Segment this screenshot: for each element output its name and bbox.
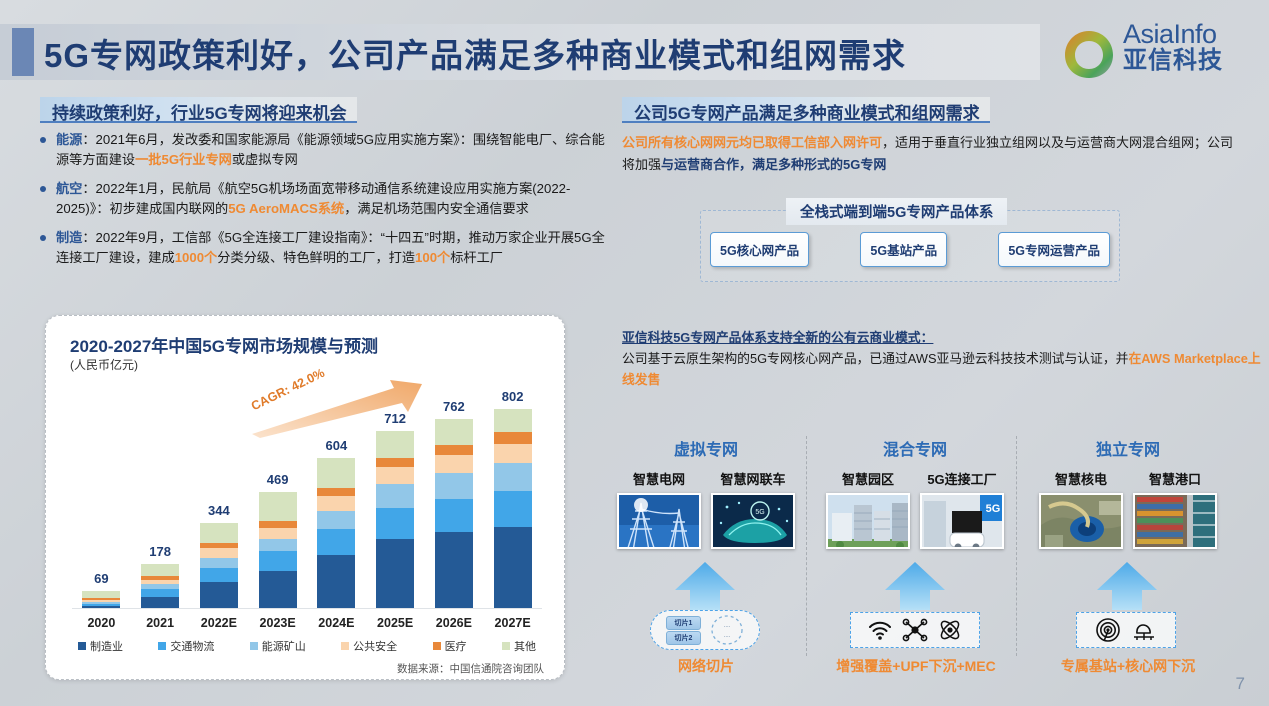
right-section-title: 公司5G专网产品满足多种商业模式和组网需求 xyxy=(622,97,990,123)
chart-bar-segment xyxy=(494,432,532,443)
legend-label: 其他 xyxy=(514,638,536,654)
connected-car-photo: 5G xyxy=(711,493,795,549)
legend-item[interactable]: 其他 xyxy=(502,638,536,654)
chart-bar-segment xyxy=(200,582,238,608)
chart-bar-value: 604 xyxy=(326,438,348,453)
column-title: 混合专网 xyxy=(820,436,1010,460)
legend-item[interactable]: 医疗 xyxy=(433,638,467,654)
chart-bar-segment xyxy=(141,564,179,576)
thumbnail-item[interactable]: 智慧网联车 5G xyxy=(711,469,795,549)
chart-bar-value: 762 xyxy=(443,399,465,414)
legend-label: 医疗 xyxy=(445,638,467,654)
chart-bar-value: 802 xyxy=(502,389,524,404)
chart-bar-segment xyxy=(259,551,297,571)
up-arrow-icon xyxy=(1096,560,1158,610)
chart-bar: 469 xyxy=(259,492,297,608)
bullet-highlight: 1000个 xyxy=(175,250,218,265)
chart-bar-segment xyxy=(200,523,238,543)
list-item: 制造：2022年9月，工信部《5G全连接工厂建设指南》：“十四五”时期，推动万家… xyxy=(30,228,610,268)
tech-icon-box xyxy=(850,612,980,648)
chart-bar-segment xyxy=(435,455,473,473)
column-divider-2 xyxy=(1016,436,1017,656)
chart-bar-segment xyxy=(259,528,297,539)
smart-factory-image: 5G xyxy=(922,495,1004,549)
chart-bar-segment xyxy=(435,473,473,499)
para-highlight: 公司所有核心网网元均已取得工信部入网许可 xyxy=(622,135,882,150)
right-paragraph-1: 公司所有核心网网元均已取得工信部入网许可，适用于垂直行业独立组网以及与运营商大网… xyxy=(622,132,1242,176)
chart-bar-segment xyxy=(259,571,297,608)
chart-bar-segment xyxy=(376,431,414,457)
list-item: 航空：2022年1月，民航局《航空5G机场场面宽带移动通信系统建设应用实施方案(… xyxy=(30,179,610,219)
thumbnail-group: 智慧园区 xyxy=(820,469,1010,549)
chart-x-tick: 2022E xyxy=(190,616,249,630)
chart-bar-segment xyxy=(141,597,179,608)
column-divider-1 xyxy=(806,436,807,656)
smart-port-photo xyxy=(1133,493,1217,549)
svg-text:....: .... xyxy=(724,623,731,629)
chart-title: 2020-2027年中国5G专网市场规模与预测 xyxy=(70,332,378,357)
smart-campus-image xyxy=(828,495,910,549)
svg-text:....: .... xyxy=(724,633,731,639)
chart-bar-segment xyxy=(494,444,532,463)
chart-x-tick: 2027E xyxy=(483,616,542,630)
chart-x-tick: 2025E xyxy=(366,616,425,630)
para2-body: 公司基于云原生架构的5G专网核心网产品，已通过AWS亚马逊云科技技术测试与认证，… xyxy=(622,348,1262,390)
asiainfo-logo-text: AsiaInfo 亚信科技 xyxy=(1123,20,1223,74)
legend-swatch-icon xyxy=(502,642,510,650)
chart-source-note: 数据来源：中国信通院咨询团队 xyxy=(397,661,544,676)
chart-bar-segment xyxy=(494,409,532,432)
chart-plot-area: 69178344469604712762802 xyxy=(72,384,542,609)
chart-bar: 178 xyxy=(141,564,179,608)
chart-bar-segment xyxy=(376,539,414,608)
thumbnail-item[interactable]: 智慧园区 xyxy=(826,469,910,549)
thumbnail-item[interactable]: 智慧电网 xyxy=(617,469,701,549)
product-system-title: 全栈式端到端5G专网产品体系 xyxy=(786,198,1007,225)
bullet-key: 能源 xyxy=(56,132,82,147)
column-title: 独立专网 xyxy=(1028,436,1228,460)
chart-x-tick: 2023E xyxy=(248,616,307,630)
chart-subtitle: (人民币亿元) xyxy=(70,356,138,373)
chart-x-tick: 2024E xyxy=(307,616,366,630)
chart-bar-segment xyxy=(317,555,355,608)
legend-swatch-icon xyxy=(78,642,86,650)
slice-chip-group: 切片1 切片2 xyxy=(666,615,702,646)
legend-item[interactable]: 制造业 xyxy=(78,638,123,654)
svg-text:5G: 5G xyxy=(755,509,764,516)
nuclear-plant-image xyxy=(1041,495,1123,549)
header-accent-bar xyxy=(12,28,34,76)
slice-more-icon: .... .... xyxy=(710,614,744,646)
chart-x-tick: 2026E xyxy=(425,616,484,630)
legend-swatch-icon xyxy=(250,642,258,650)
thumbnail-label: 智慧园区 xyxy=(826,469,910,488)
chart-x-tick: 2020 xyxy=(72,616,131,630)
chart-bar-segment xyxy=(200,558,238,568)
slide: 5G专网政策利好，公司产品满足多种商业模式和组网需求 AsiaInfo 亚信科技… xyxy=(0,0,1269,706)
legend-swatch-icon xyxy=(158,642,166,650)
slice-icon-box: 切片1 切片2 .... .... xyxy=(650,610,760,650)
chart-x-tick: 2021 xyxy=(131,616,190,630)
thumbnail-label: 智慧核电 xyxy=(1039,469,1123,488)
para2-body-text: 公司基于云原生架构的5G专网核心网产品，已通过AWS亚马逊云科技技术测试与认证，… xyxy=(622,351,1128,366)
chart-bar-segment xyxy=(494,463,532,492)
atom-icon xyxy=(937,618,963,642)
legend-item[interactable]: 交通物流 xyxy=(158,638,214,654)
chart-bar-segment xyxy=(259,492,297,522)
up-arrow-icon xyxy=(674,560,736,610)
smart-factory-photo: 5G xyxy=(920,493,1004,549)
thumbnail-label: 智慧电网 xyxy=(617,469,701,488)
chart-bar-segment xyxy=(435,419,473,445)
chart-bar: 604 xyxy=(317,458,355,608)
chart-bar: 69 xyxy=(82,591,120,608)
chart-bar-segment xyxy=(376,467,414,484)
chart-bar-segment xyxy=(435,499,473,532)
chart-x-tick-labels: 202020212022E2023E2024E2025E2026E2027E xyxy=(72,616,542,636)
legend-label: 制造业 xyxy=(90,638,123,654)
chart-bar-segment xyxy=(376,484,414,508)
logo-text-cn: 亚信科技 xyxy=(1123,48,1223,74)
column-title: 虚拟专网 xyxy=(608,436,804,460)
power-grid-image xyxy=(619,495,701,549)
page-number: 7 xyxy=(1236,674,1245,694)
column-hybrid-network: 混合专网 智慧园区 xyxy=(820,436,1010,549)
chart-bar-value: 712 xyxy=(384,411,406,426)
legend-label: 交通物流 xyxy=(170,638,214,654)
chart-bar-segment xyxy=(82,591,120,598)
bullet-text-2: ，满足机场范围内安全通信要求 xyxy=(344,201,529,216)
product-list: 5G核心网产品 5G基站产品 5G专网运营产品 xyxy=(710,232,1110,267)
column-standalone-network: 独立专网 智慧核电 xyxy=(1028,436,1228,549)
svg-text:5G: 5G xyxy=(986,503,1001,515)
chart-bar-segment xyxy=(317,488,355,496)
left-section-title: 持续政策利好，行业5G专网将迎来机会 xyxy=(40,97,357,123)
thumbnail-item[interactable]: 5G连接工厂 5G xyxy=(920,469,1004,549)
thumbnail-label: 智慧港口 xyxy=(1133,469,1217,488)
chart-bar-segment xyxy=(317,529,355,555)
thumbnail-label: 智慧网联车 xyxy=(711,469,795,488)
chart-bar-segment xyxy=(435,445,473,455)
thumbnail-label: 5G连接工厂 xyxy=(920,469,1004,488)
column-caption: 专属基站+核心网下沉 xyxy=(1020,656,1236,676)
asiainfo-logo: AsiaInfo 亚信科技 xyxy=(1061,18,1251,88)
chart-bar-segment xyxy=(200,548,238,558)
slice-chip-2: 切片2 xyxy=(666,631,702,645)
legend-swatch-icon xyxy=(433,642,441,650)
slide-header: 5G专网政策利好，公司产品满足多种商业模式和组网需求 AsiaInfo 亚信科技 xyxy=(0,24,1269,80)
bullet-text-2: 或虚拟专网 xyxy=(232,152,298,167)
chart-x-axis xyxy=(72,608,542,609)
logo-text-en: AsiaInfo xyxy=(1123,20,1223,48)
right-paragraph-2: 亚信科技5G专网产品体系支持全新的公有云商业模式： 公司基于云原生架构的5G专网… xyxy=(622,327,1262,390)
chart-bar-segment xyxy=(494,491,532,527)
chart-bar-value: 69 xyxy=(94,571,108,586)
legend-item[interactable]: 能源矿山 xyxy=(250,638,306,654)
tech-icon-box xyxy=(1076,612,1176,648)
chart-bar-segment xyxy=(376,508,414,539)
bullet-highlight: 一批5G行业专网 xyxy=(135,152,232,167)
chart-bar-segment xyxy=(259,539,297,551)
chart-bar-segment xyxy=(200,568,238,582)
cloud-network-icon xyxy=(1130,618,1158,642)
chart-bar-segment xyxy=(494,527,532,608)
bullet-text-2: 分类分级、特色鲜明的工厂，打造 xyxy=(217,250,415,265)
policy-bullet-list: 能源：2021年6月，发改委和国家能源局《能源领域5G应用实施方案》：围绕智能电… xyxy=(30,130,610,277)
chart-bar-value: 469 xyxy=(267,472,289,487)
asiainfo-logo-mark xyxy=(1061,26,1117,82)
nuclear-plant-photo xyxy=(1039,493,1123,549)
thumbnail-item[interactable]: 智慧港口 xyxy=(1133,469,1217,549)
mesh-icon xyxy=(902,618,928,642)
para-emphasis: 与运营商合作，满足多种形式的5G专网 xyxy=(661,157,886,172)
chart-bar-segment xyxy=(435,532,473,608)
antenna-icon xyxy=(1095,618,1121,642)
chart-bar: 712 xyxy=(376,431,414,608)
page-title: 5G专网政策利好，公司产品满足多种商业模式和组网需求 xyxy=(44,29,906,77)
up-arrow-icon xyxy=(884,560,946,610)
chart-bar: 802 xyxy=(494,409,532,608)
product-private-network-ops[interactable]: 5G专网运营产品 xyxy=(998,232,1110,267)
legend-item[interactable]: 公共安全 xyxy=(341,638,397,654)
column-caption: 网络切片 xyxy=(608,656,804,676)
network-type-columns: 虚拟专网 智慧电网 xyxy=(608,436,1258,686)
chart-bar-segment xyxy=(376,458,414,467)
bullet-highlight: 5G AeroMACS系统 xyxy=(228,201,344,216)
list-item: 能源：2021年6月，发改委和国家能源局《能源领域5G应用实施方案》：围绕智能电… xyxy=(30,130,610,170)
connected-car-image: 5G xyxy=(713,495,795,549)
chart-bar-value: 178 xyxy=(149,544,171,559)
chart-bar-segment xyxy=(82,606,120,608)
legend-swatch-icon xyxy=(341,642,349,650)
smart-port-image xyxy=(1135,495,1217,549)
market-forecast-chart: 2020-2027年中国5G专网市场规模与预测 (人民币亿元) 69178344… xyxy=(45,315,565,680)
product-core-network[interactable]: 5G核心网产品 xyxy=(710,232,809,267)
bullet-key: 制造 xyxy=(56,230,82,245)
legend-label: 能源矿山 xyxy=(262,638,306,654)
bullet-key: 航空 xyxy=(56,181,82,196)
legend-label: 公共安全 xyxy=(353,638,397,654)
thumbnail-item[interactable]: 智慧核电 xyxy=(1039,469,1123,549)
bullet-highlight-2: 100个 xyxy=(415,250,450,265)
para2-heading: 亚信科技5G专网产品体系支持全新的公有云商业模式： xyxy=(622,327,1262,348)
chart-bar: 762 xyxy=(435,419,473,608)
chart-legend: 制造业交通物流能源矿山公共安全医疗其他 xyxy=(72,638,542,654)
thumbnail-group: 智慧核电 智慧港口 xyxy=(1028,469,1228,549)
slice-chip-1: 切片1 xyxy=(666,616,702,630)
column-caption: 增强覆盖+UPF下沉+MEC xyxy=(806,656,1026,676)
chart-bar-segment xyxy=(317,458,355,488)
chart-bar-segment xyxy=(317,511,355,529)
bullet-text-3: 标杆工厂 xyxy=(450,250,503,265)
thumbnail-group: 智慧电网 xyxy=(608,469,804,549)
chart-bar: 344 xyxy=(200,523,238,608)
smart-campus-photo xyxy=(826,493,910,549)
chart-bar-value: 344 xyxy=(208,503,230,518)
product-base-station[interactable]: 5G基站产品 xyxy=(860,232,947,267)
chart-bar-segment xyxy=(317,496,355,511)
wifi-icon xyxy=(867,619,893,641)
column-virtual-network: 虚拟专网 智慧电网 xyxy=(608,436,804,549)
power-grid-photo xyxy=(617,493,701,549)
chart-bar-segment xyxy=(141,589,179,596)
